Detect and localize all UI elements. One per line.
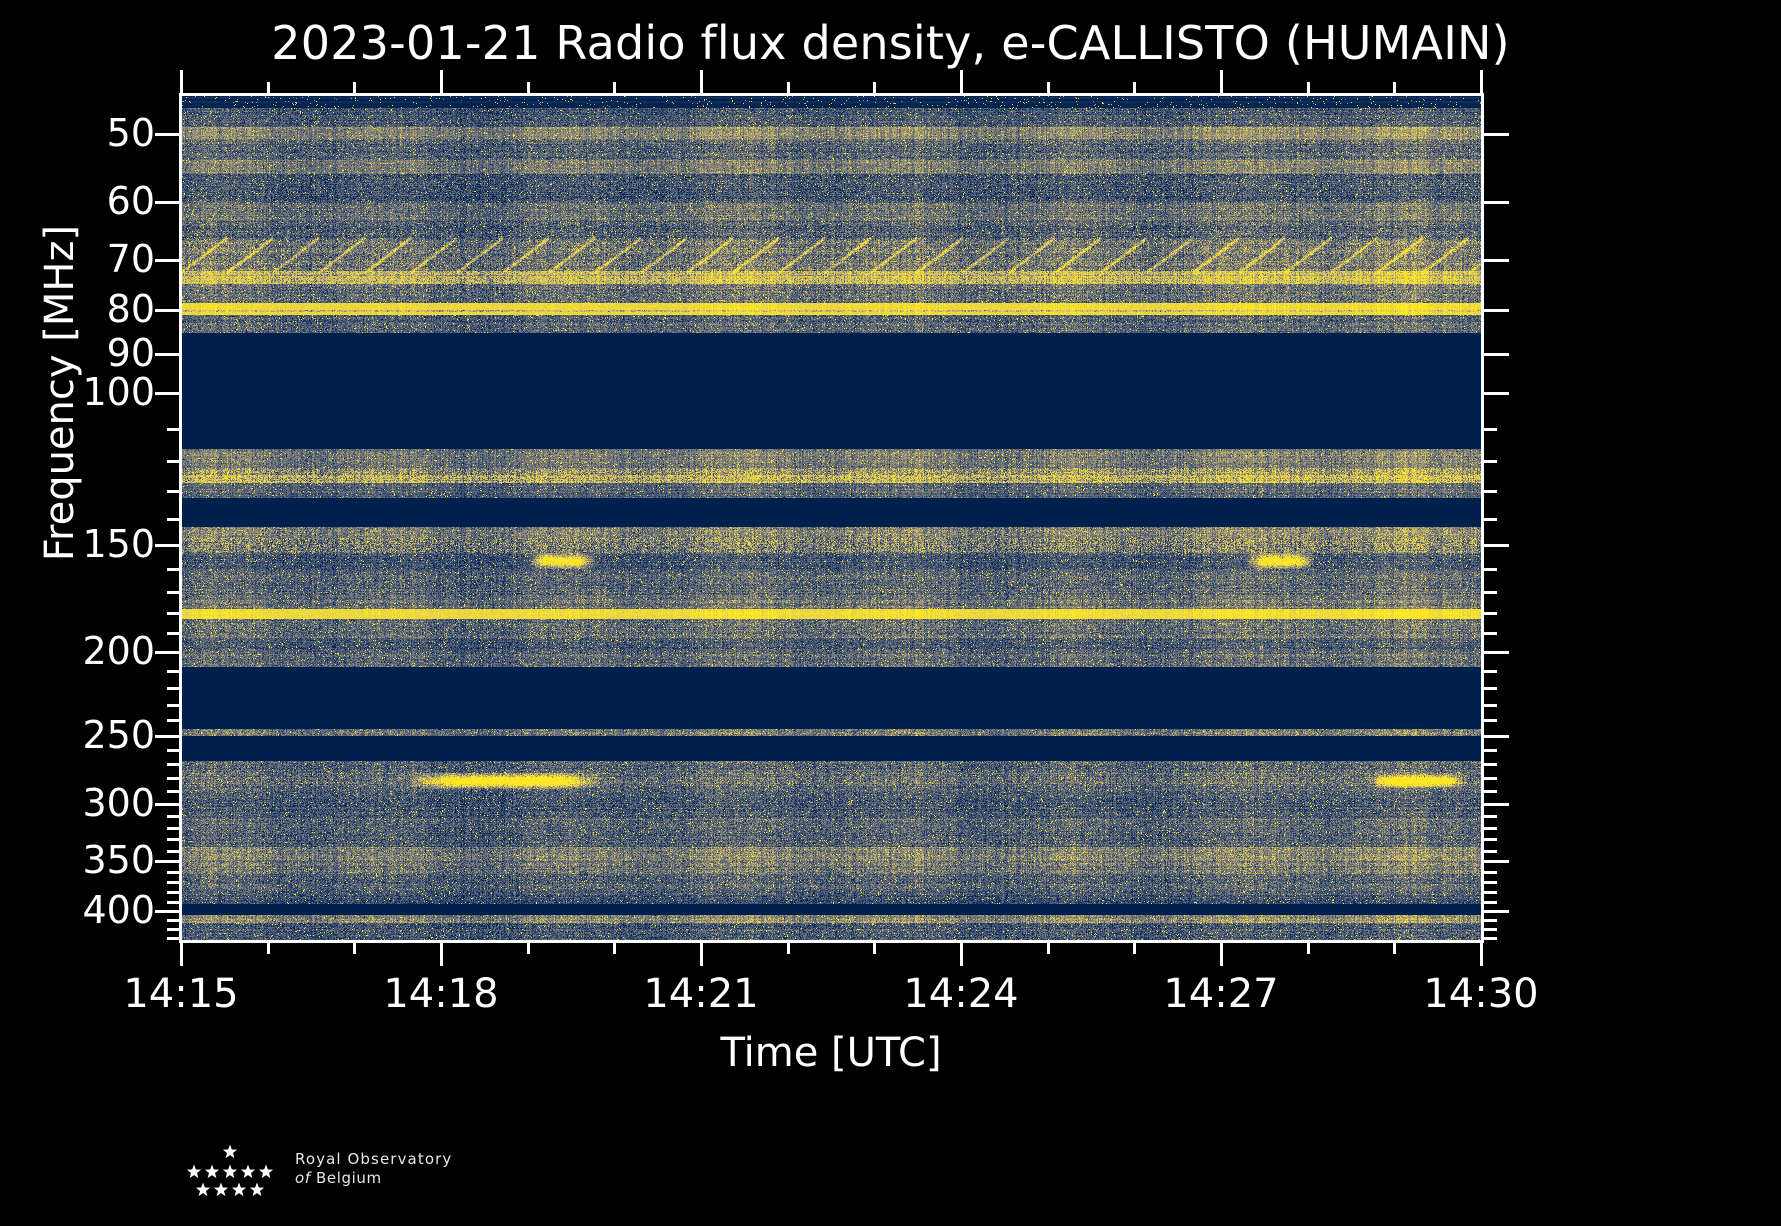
y-tick-label-150: 150 xyxy=(82,525,155,563)
y-tick-minor-390 xyxy=(167,901,181,904)
y-tick-major-350 xyxy=(155,860,181,863)
y-tick-major-300 xyxy=(155,803,181,806)
x-tick-major-top-6 xyxy=(700,70,703,96)
y-tick-major-right-300 xyxy=(1483,803,1509,806)
x-tick-major-top-15 xyxy=(1480,70,1483,96)
axis-spine-bottom xyxy=(181,940,1483,943)
y-tick-minor-right-180 xyxy=(1483,612,1497,615)
page-title: 2023-01-21 Radio flux density, e-CALLIST… xyxy=(0,16,1781,70)
y-tick-major-right-80 xyxy=(1483,309,1509,312)
y-tick-minor-140 xyxy=(167,518,181,521)
y-tick-minor-120 xyxy=(167,460,181,463)
y-tick-minor-210 xyxy=(167,670,181,673)
logo-of-italic: of xyxy=(295,1169,311,1187)
y-tick-minor-right-220 xyxy=(1483,687,1497,690)
y-tick-minor-320 xyxy=(167,827,181,830)
logo-text: Royal Observatory of Belgium xyxy=(295,1150,595,1188)
x-tick-minor-top-11 xyxy=(1133,82,1136,96)
spectrogram-image xyxy=(181,95,1481,940)
y-tick-major-right-100 xyxy=(1483,392,1509,395)
y-tick-minor-right-280 xyxy=(1483,777,1497,780)
y-tick-label-90: 90 xyxy=(107,334,155,372)
y-tick-minor-right-260 xyxy=(1483,749,1497,752)
y-tick-label-100: 100 xyxy=(82,373,155,411)
y-tick-minor-right-290 xyxy=(1483,790,1497,793)
y-tick-minor-230 xyxy=(167,704,181,707)
y-tick-major-right-90 xyxy=(1483,353,1509,356)
x-tick-major-0 xyxy=(180,940,183,966)
y-tick-minor-right-320 xyxy=(1483,827,1497,830)
x-tick-minor-13 xyxy=(1307,940,1310,954)
x-tick-minor-2 xyxy=(353,940,356,954)
y-tick-minor-right-310 xyxy=(1483,815,1497,818)
x-tick-minor-10 xyxy=(1047,940,1050,954)
y-tick-label-400: 400 xyxy=(82,891,155,929)
y-tick-minor-370 xyxy=(167,881,181,884)
y-tick-minor-right-240 xyxy=(1483,719,1497,722)
y-tick-minor-right-170 xyxy=(1483,591,1497,594)
y-tick-major-100 xyxy=(155,392,181,395)
y-tick-minor-330 xyxy=(167,838,181,841)
x-tick-minor-top-8 xyxy=(873,82,876,96)
y-tick-major-200 xyxy=(155,651,181,654)
y-tick-major-70 xyxy=(155,259,181,262)
y-tick-label-80: 80 xyxy=(107,290,155,328)
y-tick-minor-190 xyxy=(167,632,181,635)
x-tick-minor-top-5 xyxy=(613,82,616,96)
y-tick-label-350: 350 xyxy=(82,841,155,879)
y-tick-minor-right-420 xyxy=(1483,928,1497,931)
y-tick-minor-380 xyxy=(167,891,181,894)
x-tick-major-3 xyxy=(440,940,443,966)
y-tick-minor-right-330 xyxy=(1483,838,1497,841)
x-tick-minor-top-4 xyxy=(527,82,530,96)
y-tick-minor-right-430 xyxy=(1483,937,1497,940)
x-tick-major-12 xyxy=(1220,940,1223,966)
x-tick-major-15 xyxy=(1480,940,1483,966)
y-tick-major-right-150 xyxy=(1483,544,1509,547)
y-tick-minor-right-120 xyxy=(1483,460,1497,463)
y-tick-minor-right-130 xyxy=(1483,490,1497,493)
x-tick-label-14:24: 14:24 xyxy=(903,972,1018,1016)
y-tick-minor-130 xyxy=(167,490,181,493)
y-tick-minor-280 xyxy=(167,777,181,780)
y-tick-major-right-200 xyxy=(1483,651,1509,654)
x-tick-major-top-3 xyxy=(440,70,443,96)
y-tick-minor-right-390 xyxy=(1483,901,1497,904)
x-tick-label-14:21: 14:21 xyxy=(643,972,758,1016)
x-tick-label-14:27: 14:27 xyxy=(1163,972,1278,1016)
x-tick-major-top-0 xyxy=(180,70,183,96)
x-tick-label-14:18: 14:18 xyxy=(383,972,498,1016)
y-tick-minor-right-380 xyxy=(1483,891,1497,894)
x-axis-title: Time [UTC] xyxy=(181,1030,1481,1076)
y-tick-major-right-400 xyxy=(1483,910,1509,913)
spectrogram-plot-area xyxy=(181,95,1481,940)
x-tick-minor-top-2 xyxy=(353,82,356,96)
y-tick-major-150 xyxy=(155,544,181,547)
y-tick-minor-240 xyxy=(167,719,181,722)
royal-observatory-logo: Royal Observatory of Belgium xyxy=(175,1142,595,1214)
y-tick-minor-right-140 xyxy=(1483,518,1497,521)
x-tick-minor-top-7 xyxy=(787,82,790,96)
y-tick-minor-420 xyxy=(167,928,181,931)
y-tick-minor-340 xyxy=(167,850,181,853)
y-tick-label-70: 70 xyxy=(107,240,155,278)
x-tick-minor-top-13 xyxy=(1307,82,1310,96)
x-tick-minor-8 xyxy=(873,940,876,954)
spectrogram-figure: 2023-01-21 Radio flux density, e-CALLIST… xyxy=(0,0,1781,1226)
y-tick-major-80 xyxy=(155,309,181,312)
y-tick-minor-right-190 xyxy=(1483,632,1497,635)
y-tick-minor-right-370 xyxy=(1483,881,1497,884)
x-tick-major-top-12 xyxy=(1220,70,1223,96)
axis-spine-top xyxy=(181,93,1483,96)
y-tick-major-90 xyxy=(155,353,181,356)
logo-line-1: Royal Observatory xyxy=(295,1150,595,1169)
y-tick-minor-right-110 xyxy=(1483,428,1497,431)
y-tick-major-right-350 xyxy=(1483,860,1509,863)
y-tick-minor-right-230 xyxy=(1483,704,1497,707)
x-tick-minor-11 xyxy=(1133,940,1136,954)
y-tick-label-60: 60 xyxy=(107,182,155,220)
y-tick-label-200: 200 xyxy=(82,632,155,670)
x-tick-major-9 xyxy=(960,940,963,966)
y-tick-minor-right-410 xyxy=(1483,919,1497,922)
x-tick-minor-top-10 xyxy=(1047,82,1050,96)
y-tick-label-250: 250 xyxy=(82,716,155,754)
y-tick-major-right-60 xyxy=(1483,201,1509,204)
y-tick-minor-right-160 xyxy=(1483,568,1497,571)
y-tick-minor-160 xyxy=(167,568,181,571)
y-tick-minor-270 xyxy=(167,763,181,766)
y-tick-major-400 xyxy=(155,910,181,913)
y-tick-minor-430 xyxy=(167,937,181,940)
y-tick-minor-right-340 xyxy=(1483,850,1497,853)
y-tick-minor-right-270 xyxy=(1483,763,1497,766)
x-tick-minor-1 xyxy=(267,940,270,954)
y-tick-minor-410 xyxy=(167,919,181,922)
logo-line-2: of Belgium xyxy=(295,1169,595,1188)
y-tick-major-50 xyxy=(155,133,181,136)
y-tick-minor-290 xyxy=(167,790,181,793)
x-tick-major-6 xyxy=(700,940,703,966)
y-tick-minor-310 xyxy=(167,815,181,818)
y-tick-minor-260 xyxy=(167,749,181,752)
y-tick-major-right-50 xyxy=(1483,133,1509,136)
x-tick-minor-top-14 xyxy=(1393,82,1396,96)
x-tick-minor-4 xyxy=(527,940,530,954)
y-tick-label-50: 50 xyxy=(107,114,155,152)
y-tick-major-right-250 xyxy=(1483,735,1509,738)
y-tick-minor-180 xyxy=(167,612,181,615)
x-tick-minor-top-1 xyxy=(267,82,270,96)
x-tick-label-14:15: 14:15 xyxy=(123,972,238,1016)
y-tick-label-300: 300 xyxy=(82,784,155,822)
logo-belgium: Belgium xyxy=(316,1169,382,1187)
y-tick-major-250 xyxy=(155,735,181,738)
x-tick-major-top-9 xyxy=(960,70,963,96)
eu-stars-icon xyxy=(175,1142,285,1204)
y-tick-minor-170 xyxy=(167,591,181,594)
y-tick-major-60 xyxy=(155,201,181,204)
y-tick-minor-110 xyxy=(167,428,181,431)
x-tick-label-14:30: 14:30 xyxy=(1423,972,1538,1016)
y-tick-minor-right-360 xyxy=(1483,871,1497,874)
y-tick-minor-right-210 xyxy=(1483,670,1497,673)
y-tick-major-right-70 xyxy=(1483,259,1509,262)
y-tick-minor-360 xyxy=(167,871,181,874)
x-tick-minor-7 xyxy=(787,940,790,954)
x-tick-minor-5 xyxy=(613,940,616,954)
y-axis-title: Frequency [MHz] xyxy=(37,183,83,603)
y-tick-minor-220 xyxy=(167,687,181,690)
x-tick-minor-14 xyxy=(1393,940,1396,954)
